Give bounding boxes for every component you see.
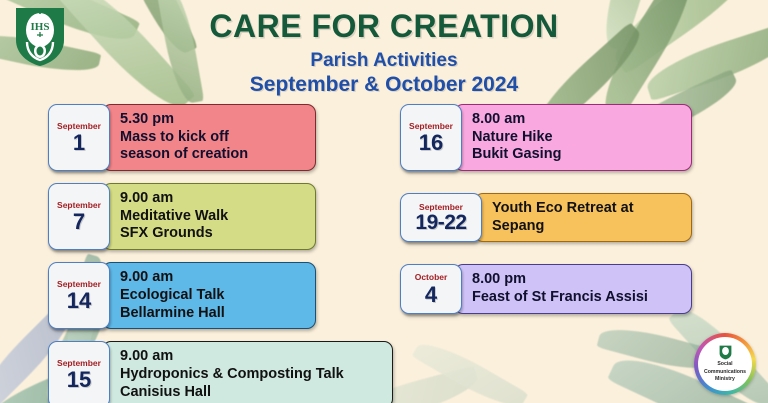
event-card[interactable]: September 15 9.00 am Hydroponics & Compo… bbox=[48, 341, 393, 403]
ihs-shield-icon: IHS bbox=[14, 6, 66, 68]
event-details: Youth Eco Retreat at Sepang bbox=[474, 193, 692, 242]
date-day: 14 bbox=[54, 289, 104, 312]
scm-shield-icon bbox=[719, 345, 732, 360]
event-title: Ecological Talk bbox=[120, 287, 305, 305]
scm-line-1: Social bbox=[712, 361, 737, 368]
event-details: 9.00 am Ecological Talk Bellarmine Hall bbox=[102, 262, 316, 329]
scm-line-3: Ministry bbox=[710, 376, 740, 383]
date-day: 4 bbox=[406, 283, 456, 306]
event-location: season of creation bbox=[120, 146, 305, 164]
event-title: Mass to kick off bbox=[120, 129, 305, 147]
event-title: Meditative Walk bbox=[120, 208, 305, 226]
event-details: 5.30 pm Mass to kick off season of creat… bbox=[102, 104, 316, 171]
event-time: 8.00 am bbox=[472, 111, 681, 129]
date-day: 15 bbox=[54, 368, 104, 391]
scm-line-2: Communications bbox=[699, 369, 751, 376]
date-badge: September 16 bbox=[400, 104, 462, 171]
events-column-left: September 1 5.30 pm Mass to kick off sea… bbox=[48, 104, 316, 403]
subtitle-line-2: September & October 2024 bbox=[0, 73, 768, 97]
subtitle-line-1: Parish Activities bbox=[0, 50, 768, 72]
event-card[interactable]: September 14 9.00 am Ecological Talk Bel… bbox=[48, 262, 316, 329]
date-badge: September 19-22 bbox=[400, 193, 482, 242]
event-time: 9.00 am bbox=[120, 269, 305, 287]
event-time: 8.00 pm bbox=[472, 271, 681, 289]
event-details: 9.00 am Meditative Walk SFX Grounds bbox=[102, 183, 316, 250]
date-day: 7 bbox=[54, 210, 104, 233]
social-communications-ministry-badge: Social Communications Ministry bbox=[694, 333, 756, 395]
event-card[interactable]: October 4 8.00 pm Feast of St Francis As… bbox=[400, 264, 692, 313]
date-badge: September 1 bbox=[48, 104, 110, 171]
date-badge: September 15 bbox=[48, 341, 110, 403]
event-location: SFX Grounds bbox=[120, 225, 305, 243]
event-title: Nature Hike bbox=[472, 129, 681, 147]
event-location: Sepang bbox=[492, 218, 681, 236]
event-title: Hydroponics & Composting Talk bbox=[120, 366, 382, 384]
event-card[interactable]: September 16 8.00 am Nature Hike Bukit G… bbox=[400, 104, 692, 171]
event-details: 8.00 pm Feast of St Francis Assisi bbox=[454, 264, 692, 313]
event-location: Bellarmine Hall bbox=[120, 305, 305, 323]
date-badge: September 7 bbox=[48, 183, 110, 250]
date-day: 16 bbox=[406, 131, 456, 154]
page-title: CARE FOR CREATION bbox=[0, 8, 768, 45]
event-card[interactable]: September 19-22 Youth Eco Retreat at Sep… bbox=[400, 193, 692, 242]
title-block: CARE FOR CREATION Parish Activities Sept… bbox=[0, 8, 768, 97]
event-location: Canisius Hall bbox=[120, 384, 382, 402]
date-day: 19-22 bbox=[406, 212, 476, 234]
event-time: 5.30 pm bbox=[120, 111, 305, 129]
event-details: 8.00 am Nature Hike Bukit Gasing bbox=[454, 104, 692, 171]
date-badge: October 4 bbox=[400, 264, 462, 313]
date-badge: September 14 bbox=[48, 262, 110, 329]
svg-text:IHS: IHS bbox=[31, 21, 50, 33]
poster-canvas: IHS CARE FOR CREATION Parish Activities … bbox=[0, 0, 768, 403]
event-details: 9.00 am Hydroponics & Composting Talk Ca… bbox=[102, 341, 393, 403]
events-column-right: September 16 8.00 am Nature Hike Bukit G… bbox=[400, 104, 692, 326]
event-title: Feast of St Francis Assisi bbox=[472, 289, 681, 307]
event-title: Youth Eco Retreat at bbox=[492, 200, 681, 218]
date-day: 1 bbox=[54, 131, 104, 154]
event-card[interactable]: September 7 9.00 am Meditative Walk SFX … bbox=[48, 183, 316, 250]
event-location: Bukit Gasing bbox=[472, 146, 681, 164]
event-time: 9.00 am bbox=[120, 190, 305, 208]
event-card[interactable]: September 1 5.30 pm Mass to kick off sea… bbox=[48, 104, 316, 171]
event-time: 9.00 am bbox=[120, 348, 382, 366]
